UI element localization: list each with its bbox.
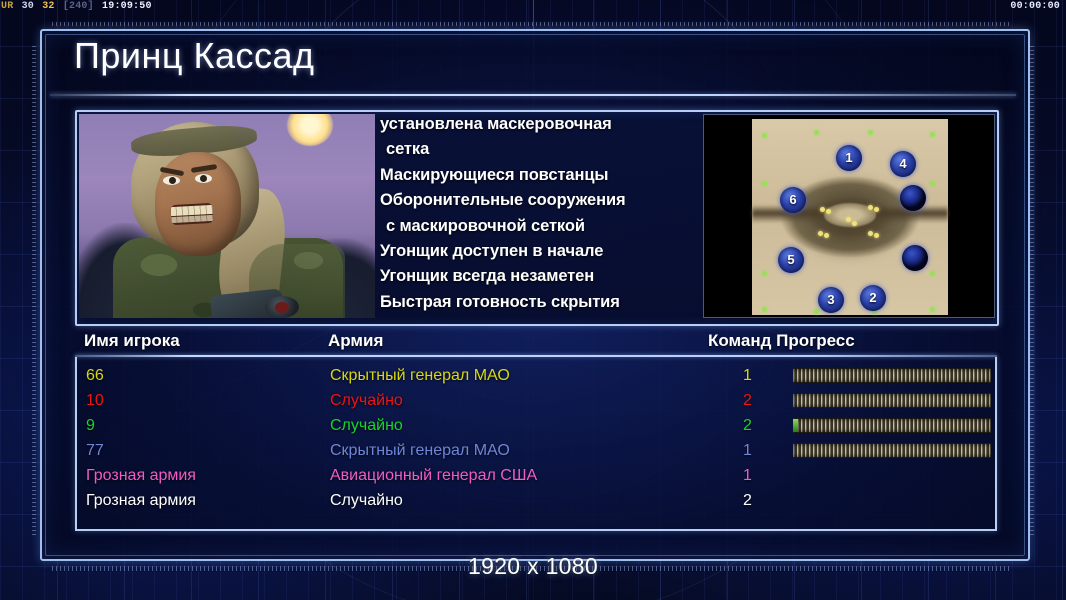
minimap-resource-dot (930, 271, 935, 276)
faction-description: установлена маскеровочнаясеткаМаскирующи… (380, 112, 700, 320)
minimap-supply-dot (824, 233, 829, 238)
player-army: Авиационный генерал США (330, 463, 537, 488)
minimap-start-position[interactable]: 5 (778, 247, 804, 273)
minimap-supply-dot (874, 233, 879, 238)
minimap-supply-dot (820, 207, 825, 212)
player-name: Грозная армия (86, 488, 196, 513)
minimap-resource-dot (762, 181, 767, 186)
column-header-team-progress: Команд Прогресс (708, 331, 855, 351)
description-line: сетка (380, 137, 700, 162)
table-row[interactable]: Грозная армияАвиационный генерал США1 (77, 463, 995, 488)
player-army: Скрытный генерал МАО (330, 363, 510, 388)
description-line: Быстрая готовность скрытия (380, 290, 700, 315)
ruler-right (1030, 46, 1034, 536)
player-progress-bar (793, 393, 991, 408)
player-table-header: Имя игрока Армия Команд Прогресс (75, 331, 995, 355)
osd-clock: 19:09:50 (101, 1, 153, 12)
portrait-teeth (171, 215, 213, 223)
minimap-start-position[interactable]: 1 (836, 145, 862, 171)
minimap-resource-dot (930, 181, 935, 186)
minimap-supply-dot (874, 207, 879, 212)
player-team: 2 (743, 488, 752, 513)
portrait-pupil (200, 175, 207, 182)
player-team: 2 (743, 388, 752, 413)
page-title: Принц Кассад (74, 35, 315, 77)
player-team: 1 (743, 463, 752, 488)
player-progress-bar (793, 418, 991, 433)
game-screen: UR 30 32 [240] 19:09:50 00:00:00 Принц К… (0, 0, 1066, 600)
title-divider (50, 94, 1016, 96)
player-progress-bar (793, 443, 991, 458)
osd-value-2: 32 (41, 1, 55, 12)
minimap-start-position[interactable]: 3 (818, 287, 844, 313)
osd-status-bar: UR 30 32 [240] 19:09:50 00:00:00 (0, 0, 1066, 13)
table-row[interactable]: 10Случайно2 (77, 388, 995, 413)
osd-label: UR (0, 1, 14, 12)
portrait-mouth (171, 203, 214, 225)
minimap-resource-dot (762, 133, 767, 138)
table-row[interactable]: 77Скрытный генерал МАО1 (77, 438, 995, 463)
player-name: 77 (86, 438, 104, 463)
portrait-weapon-muzzle (275, 302, 289, 313)
ruler-left (32, 46, 36, 536)
minimap-supply-dot (852, 221, 857, 226)
player-army: Случайно (330, 488, 403, 513)
minimap-start-position[interactable] (900, 185, 926, 211)
player-army: Случайно (330, 413, 403, 438)
player-team: 1 (743, 438, 752, 463)
description-line: Угонщик доступен в начале (380, 239, 700, 264)
minimap-resource-dot (930, 132, 935, 137)
player-team: 2 (743, 413, 752, 438)
osd-value-1: 30 (21, 1, 35, 12)
player-table-body: 66Скрытный генерал МАО110Случайно29Случа… (75, 357, 997, 531)
character-portrait (79, 114, 375, 318)
table-row[interactable]: Грозная армияСлучайно2 (77, 488, 995, 513)
description-line: Маскирующиеся повстанцы (380, 163, 700, 188)
minimap-start-position[interactable] (902, 245, 928, 271)
player-name: 9 (86, 413, 95, 438)
minimap-resource-dot (762, 307, 767, 312)
minimap-frame: 146532 (703, 114, 995, 318)
player-name: Грозная армия (86, 463, 196, 488)
title-zone: Принц Кассад (42, 31, 1024, 93)
minimap-start-position[interactable]: 6 (780, 187, 806, 213)
minimap-supply-dot (846, 217, 851, 222)
info-box: установлена маскеровочнаясеткаМаскирующи… (75, 110, 999, 326)
minimap-supply-dot (868, 231, 873, 236)
description-line: установлена маскеровочная (380, 112, 700, 137)
minimap-start-position[interactable]: 2 (860, 285, 886, 311)
description-line: Оборонительные сооружения (380, 188, 700, 213)
player-progress-bar (793, 368, 991, 383)
minimap-start-position[interactable]: 4 (890, 151, 916, 177)
minimap-supply-dot (868, 205, 873, 210)
player-team: 1 (743, 363, 752, 388)
minimap-resource-dot (814, 309, 819, 314)
description-line: от СВМ (380, 315, 700, 320)
minimap-resource-dot (762, 271, 767, 276)
minimap-supply-dot (818, 231, 823, 236)
player-name: 66 (86, 363, 104, 388)
table-row[interactable]: 66Скрытный генерал МАО1 (77, 363, 995, 388)
player-army: Случайно (330, 388, 403, 413)
osd-bracket-value: [240] (62, 1, 95, 12)
ruler-top (52, 22, 1012, 26)
progress-lead-segment (793, 419, 798, 432)
minimap-resource-dot (930, 307, 935, 312)
osd-timer: 00:00:00 (1010, 0, 1060, 13)
column-header-name: Имя игрока (84, 331, 180, 351)
description-line: с маскировочной сеткой (380, 214, 700, 239)
player-name: 10 (86, 388, 104, 413)
player-army: Скрытный генерал МАО (330, 438, 510, 463)
column-header-army: Армия (328, 331, 383, 351)
minimap: 146532 (752, 119, 948, 315)
description-line: Угонщик всегда незаметен (380, 264, 700, 289)
minimap-resource-dot (814, 130, 819, 135)
resolution-label: 1920 x 1080 (0, 553, 1066, 580)
minimap-supply-dot (826, 209, 831, 214)
portrait-pupil (169, 177, 176, 184)
table-row[interactable]: 9Случайно2 (77, 413, 995, 438)
loading-panel: Принц Кассад (40, 29, 1030, 561)
minimap-resource-dot (868, 130, 873, 135)
